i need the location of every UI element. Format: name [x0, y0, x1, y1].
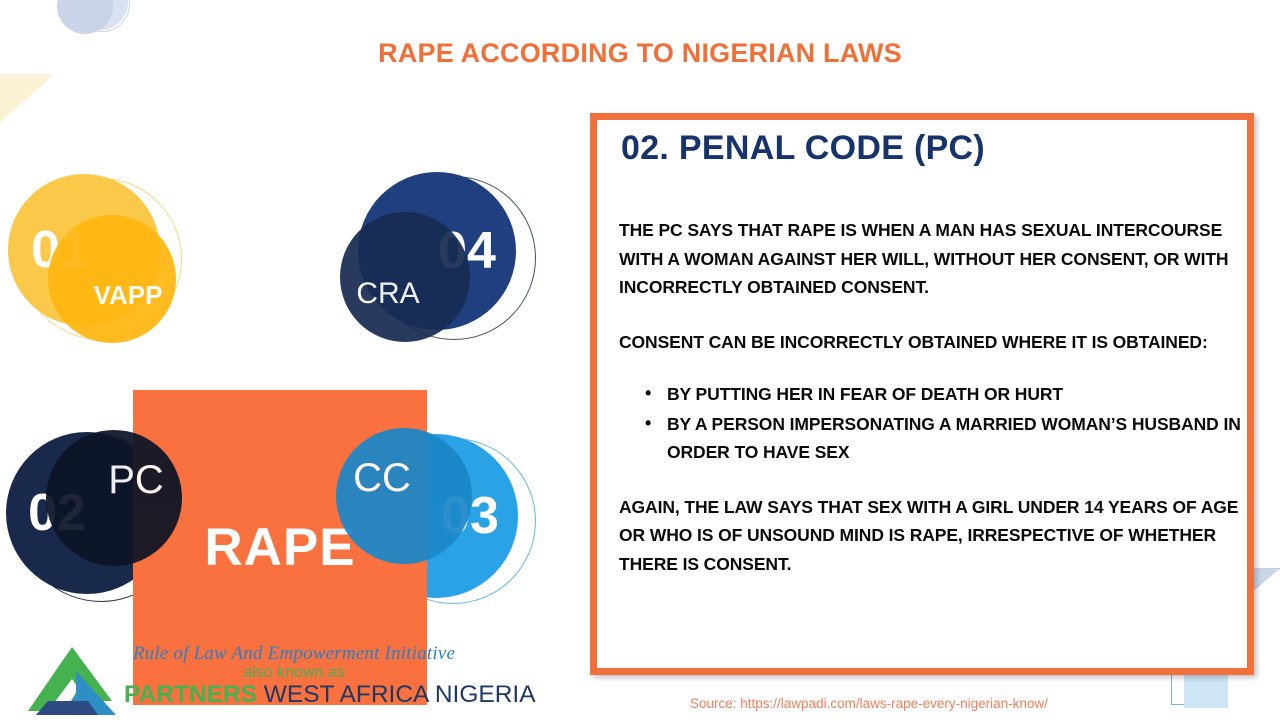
logo-tagline: Rule of Law And Empowerment Initiative: [124, 643, 464, 665]
diagram-tag-label-pc: PC: [108, 458, 164, 503]
panel-paragraph-3: AGAIN, THE LAW SAYS THAT SEX WITH A GIRL…: [619, 493, 1241, 579]
diagram-tag-circle-cra[interactable]: CRA: [340, 212, 470, 342]
decorative-circle-top-left-b: [72, 0, 128, 30]
list-item: BY A PERSON IMPERSONATING A MARRIED WOMA…: [645, 410, 1241, 467]
organization-logo: Rule of Law And Empowerment Initiative a…: [26, 643, 446, 715]
diagram-tag-circle-vapp[interactable]: VAPP: [48, 215, 176, 343]
diagram-tag-label-cc: CC: [353, 456, 411, 501]
page-title: RAPE ACCORDING TO NIGERIAN LAWS: [0, 38, 1280, 69]
decorative-circle-outline-icon: [74, 0, 130, 32]
content-panel: 02. PENAL CODE (PC) THE PC SAYS THAT RAP…: [590, 113, 1254, 675]
panel-paragraph-1: THE PC SAYS THAT RAPE IS WHEN A MAN HAS …: [619, 216, 1241, 302]
logo-name-partners: PARTNERS: [124, 681, 257, 708]
diagram-tag-label-cra: CRA: [356, 277, 419, 311]
panel-paragraph-2: CONSENT CAN BE INCORRECTLY OBTAINED WHER…: [619, 328, 1241, 357]
panel-bullet-list: BY PUTTING HER IN FEAR OF DEATH OR HURT …: [619, 380, 1241, 467]
diagram-tag-circle-pc[interactable]: PC: [46, 430, 182, 566]
logo-name: PARTNERS WEST AFRICA NIGERIA: [124, 681, 464, 708]
source-note[interactable]: Source: https://lawpadi.com/laws-rape-ev…: [690, 696, 1048, 711]
logo-aka: also known as: [124, 664, 464, 681]
logo-triangle-icon: [26, 645, 118, 715]
decorative-triangle-left: [0, 74, 54, 130]
list-item: BY PUTTING HER IN FEAR OF DEATH OR HURT: [645, 380, 1241, 409]
logo-name-rest: WEST AFRICA NIGERIA: [257, 681, 536, 708]
diagram-tag-circle-cc[interactable]: CC: [336, 428, 472, 564]
panel-heading: 02. PENAL CODE (PC): [621, 129, 985, 168]
rape-laws-diagram: 01 04 02 03 RAPE VAPP CRA PC CC: [0, 160, 570, 580]
diagram-tag-label-vapp: VAPP: [94, 280, 163, 311]
decorative-circle-top-left-a: [57, 0, 113, 34]
decorative-triangle-left-secondary: [0, 80, 48, 130]
panel-body: THE PC SAYS THAT RAPE IS WHEN A MAN HAS …: [619, 216, 1241, 604]
logo-wordmark: Rule of Law And Empowerment Initiative a…: [124, 643, 464, 708]
